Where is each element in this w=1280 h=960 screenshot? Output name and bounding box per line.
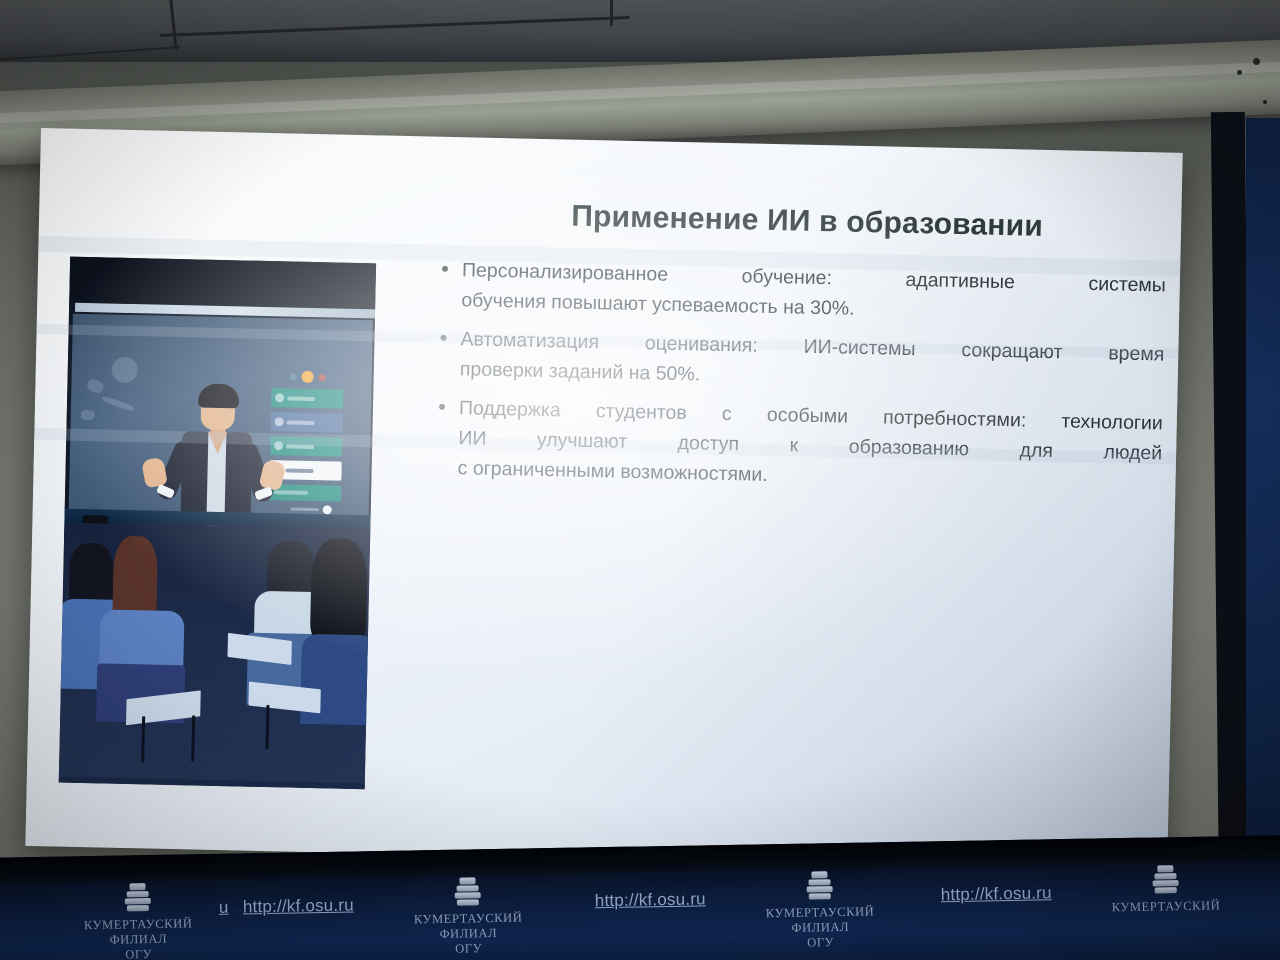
books-icon [1152,865,1178,893]
lecture-room-photo: h [0,0,1280,960]
menu-item-label [274,490,308,495]
books-icon [124,883,150,911]
ceiling-seam [610,0,613,26]
board-doodle [101,395,135,412]
status-dot [290,373,297,380]
board-status-dots [290,370,326,383]
board-doodle [86,378,105,395]
illustration-upper [64,257,376,550]
bottom-sponsor-banner: u КУМЕРТАУСКИЙ ФИЛИАЛ ОГУ http://kf.osu.… [0,835,1280,960]
student-figure [96,535,210,707]
slide-bullet-list: Персонализированное обучение: адаптивные… [431,255,1166,508]
illustration-lower-students [59,523,371,790]
board-menu-item [270,412,342,433]
status-dot-active [302,371,314,383]
menu-item-icon [275,393,284,402]
banner-org-line: КУМЕРТАУСКИЙ [745,904,895,922]
slider-track [291,508,319,512]
banner-logo-block: КУМЕРТАУСКИЙ ФИЛИАЛ ОГУ [744,870,895,952]
banner-org-line: ОГУ [64,946,214,960]
banner-logo-block: КУМЕРТАУСКИЙ [1090,864,1241,916]
illustration-bottom-edge [59,777,365,790]
menu-item-label [286,468,314,473]
board-doodle [111,357,138,384]
menu-item-label [287,396,315,401]
desk-leg [266,705,270,749]
books-icon [806,871,832,899]
banner-logo-block: КУМЕРТАУСКИЙ ФИЛИАЛ ОГУ [392,876,543,958]
banner-org-line: КУМЕРТАУСКИЙ [1091,898,1241,916]
banner-logo-block: КУМЕРТАУСКИЙ ФИЛИАЛ ОГУ [62,882,213,960]
ceiling-seam [169,0,177,50]
menu-item-icon [275,417,284,426]
board-doodle [81,410,95,420]
menu-item-label [287,420,315,425]
desk-leg [141,716,145,762]
banner-org-line: ОГУ [745,934,895,952]
side-blue-banner: h [1246,118,1280,918]
banner-url[interactable]: http://kf.osu.ru [595,889,706,911]
banner-url[interactable]: u [219,898,229,918]
student-figure [300,538,376,720]
wall-screw [1253,58,1260,65]
banner-url[interactable]: http://kf.osu.ru [941,883,1052,905]
wall-top-dark [69,257,376,310]
slider-knob [323,505,332,514]
board-menu-item [271,388,343,409]
banner-org-line: КУМЕРТАУСКИЙ [393,910,543,928]
banner-org-line: ОГУ [394,940,544,958]
banner-org-line: КУМЕРТАУСКИЙ [63,916,213,934]
student-hair [310,538,368,643]
books-icon [454,877,480,905]
desk-leg [191,715,195,761]
ceiling-seam [160,16,630,37]
projection-screen: Применение ИИ в образовании Персонализир… [25,128,1182,871]
wall-screw [1263,100,1267,104]
slide-title: Применение ИИ в образовании [447,197,1168,247]
ceiling-seam [0,46,180,61]
wall-screw [1237,70,1242,75]
banner-url[interactable]: http://kf.osu.ru [243,895,354,917]
status-dot [319,374,326,381]
